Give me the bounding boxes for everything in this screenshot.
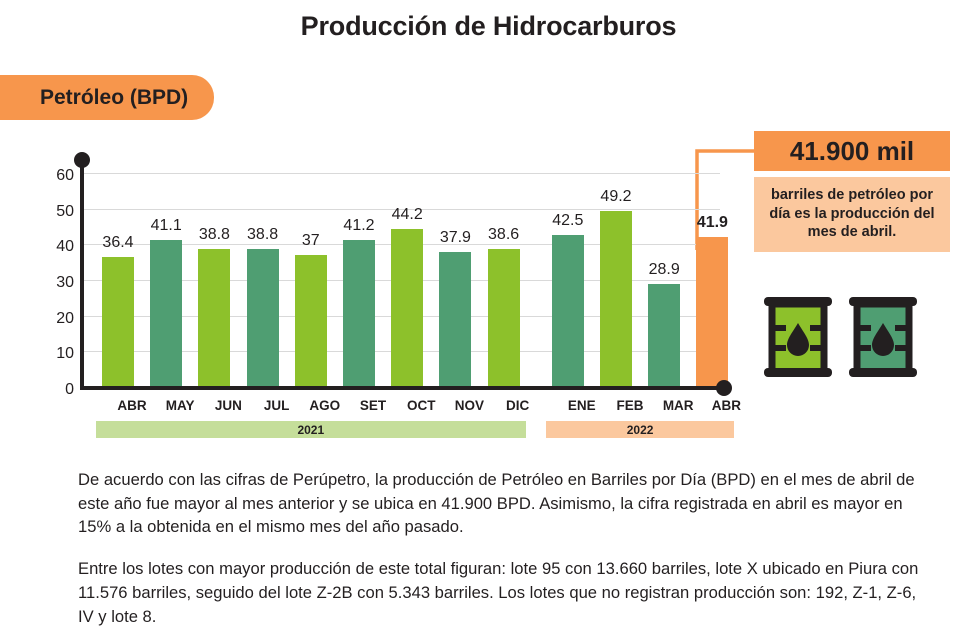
bar[interactable] bbox=[439, 252, 471, 387]
bar-value-label: 38.6 bbox=[474, 226, 534, 244]
x-axis-month-label: ABR bbox=[696, 398, 756, 413]
y-axis-tick-label: 0 bbox=[40, 381, 74, 399]
bar[interactable] bbox=[488, 249, 520, 387]
bar[interactable] bbox=[600, 211, 632, 387]
section-tab-petroleo: Petróleo (BPD) bbox=[0, 75, 214, 120]
bar-value-label: 42.5 bbox=[538, 212, 598, 230]
y-axis-tick-label: 10 bbox=[40, 345, 74, 363]
year-band: 2021 bbox=[96, 421, 526, 438]
bar-column[interactable]: 44.2 bbox=[391, 155, 423, 387]
bar[interactable] bbox=[102, 257, 134, 387]
bar-column[interactable]: 41.9 bbox=[696, 155, 728, 387]
bar-column[interactable]: 49.2 bbox=[600, 155, 632, 387]
bar[interactable] bbox=[648, 284, 680, 387]
callout-value-badge: 41.900 mil bbox=[754, 131, 950, 171]
y-axis-tick-label: 20 bbox=[40, 310, 74, 328]
barrel-icon-group bbox=[762, 294, 919, 380]
callout-value-text: 41.900 mil bbox=[790, 136, 914, 167]
bar-column[interactable]: 28.9 bbox=[648, 155, 680, 387]
body-text: De acuerdo con las cifras de Perúpetro, … bbox=[78, 468, 933, 628]
oil-barrel-icon bbox=[762, 294, 834, 380]
bar-value-label: 36.4 bbox=[88, 234, 148, 252]
bar-column[interactable]: 41.2 bbox=[343, 155, 375, 387]
y-axis-tick-labels: 0102030405060 bbox=[34, 140, 74, 400]
section-tab-label: Petróleo (BPD) bbox=[40, 86, 188, 110]
bar-column[interactable]: 38.8 bbox=[198, 155, 230, 387]
bar[interactable] bbox=[696, 237, 728, 387]
x-axis-line bbox=[80, 386, 722, 390]
bar[interactable] bbox=[198, 249, 230, 387]
paragraph-2: Entre los lotes con mayor producción de … bbox=[78, 557, 933, 628]
bar-column[interactable]: 37.9 bbox=[439, 155, 471, 387]
x-axis-endpoint-dot bbox=[716, 380, 732, 396]
bar-column[interactable]: 36.4 bbox=[102, 155, 134, 387]
paragraph-1: De acuerdo con las cifras de Perúpetro, … bbox=[78, 468, 933, 539]
x-axis-month-label: DIC bbox=[488, 398, 548, 413]
y-axis-line bbox=[80, 158, 84, 390]
y-axis-tick-label: 50 bbox=[40, 203, 74, 221]
bar-column[interactable]: 41.1 bbox=[150, 155, 182, 387]
bar[interactable] bbox=[552, 235, 584, 387]
bar-column[interactable]: 38.8 bbox=[247, 155, 279, 387]
oil-barrel-icon bbox=[847, 294, 919, 380]
bar-column[interactable]: 42.5 bbox=[552, 155, 584, 387]
bar[interactable] bbox=[391, 229, 423, 387]
bar[interactable] bbox=[150, 240, 182, 387]
bar-column[interactable]: 38.6 bbox=[488, 155, 520, 387]
bar-value-label: 41.9 bbox=[682, 214, 742, 232]
bar-value-label: 28.9 bbox=[634, 261, 694, 279]
page-title: Producción de Hidrocarburos bbox=[0, 11, 977, 42]
callout-description-box: barriles de petróleo por día es la produ… bbox=[754, 177, 950, 252]
bar-value-label: 49.2 bbox=[586, 188, 646, 206]
bar[interactable] bbox=[295, 255, 327, 387]
callout-description-text: barriles de petróleo por día es la produ… bbox=[769, 187, 934, 240]
bar-chart: 0102030405060 36.441.138.838.83741.244.2… bbox=[0, 140, 760, 450]
y-axis-tick-label: 30 bbox=[40, 274, 74, 292]
year-band: 2022 bbox=[546, 421, 735, 438]
plot-area: 36.441.138.838.83741.244.237.938.642.549… bbox=[84, 155, 720, 387]
y-axis-tick-label: 40 bbox=[40, 238, 74, 256]
bar-value-label: 44.2 bbox=[377, 206, 437, 224]
y-axis-tick-label: 60 bbox=[40, 167, 74, 185]
y-axis-endpoint-dot bbox=[74, 152, 90, 168]
bar-column[interactable]: 37 bbox=[295, 155, 327, 387]
bar[interactable] bbox=[247, 249, 279, 387]
bar[interactable] bbox=[343, 240, 375, 387]
